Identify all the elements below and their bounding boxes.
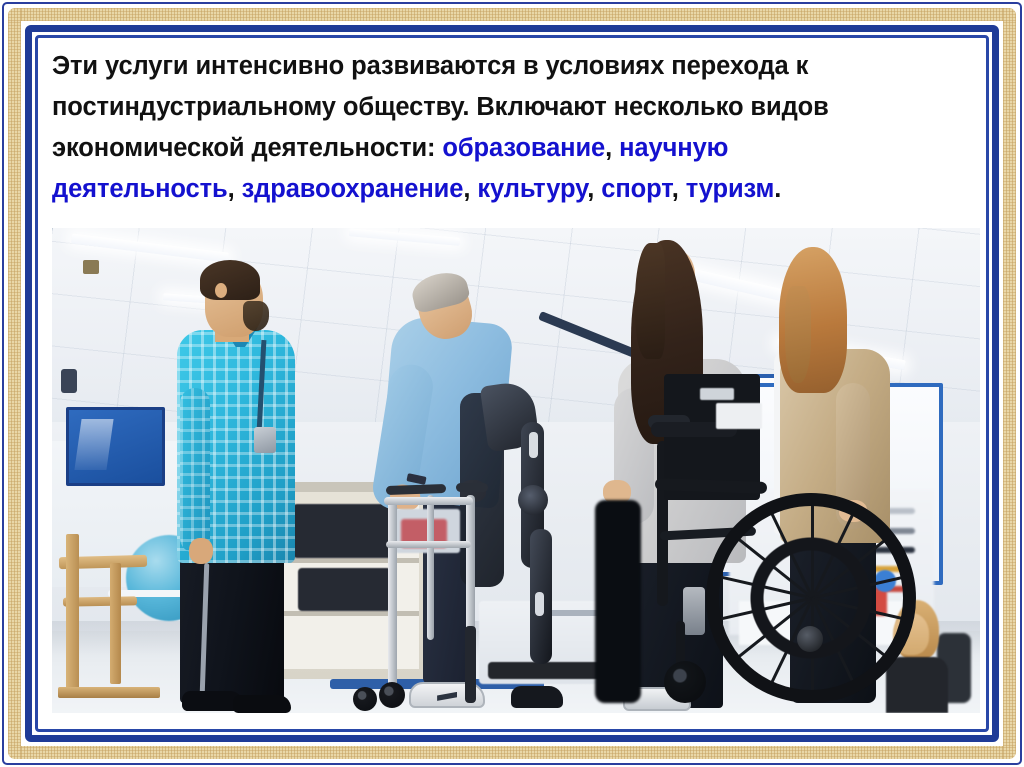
slide-body-text: Эти услуги интенсивно развиваются в усло… [52, 46, 974, 210]
term-nauchnuyu: научную [619, 134, 728, 162]
text-period: . [774, 175, 781, 203]
text-line-1-span: Эти услуги интенсивно развиваются в усло… [52, 52, 808, 80]
wall-fixture-icon [83, 260, 99, 274]
cart-bag-1 [293, 504, 395, 557]
term-turizm: туризм [686, 175, 775, 203]
slide-photo [52, 228, 980, 713]
exoskeleton-foot-plate [511, 686, 563, 708]
walker-crossbar-mid [386, 541, 471, 548]
foreground-silhouette [595, 500, 641, 704]
text-line-1: Эти услуги интенсивно развиваются в усло… [52, 46, 974, 87]
slide-root: Эти услуги интенсивно развиваются в усло… [0, 0, 1024, 767]
text-line-2-span: постиндустриальному обществу. Включают н… [52, 93, 829, 121]
therapist-male-trousers [180, 558, 284, 704]
term-zdravoohranenie: здравоохранение [242, 175, 464, 203]
cart-shelf-2 [279, 611, 418, 616]
text-sep-5: , [672, 175, 686, 203]
ceiling-camera-icon [61, 369, 77, 393]
text-sep-2: , [228, 175, 242, 203]
walker-crossbar-top [384, 497, 473, 505]
therapist-female-hair-front [635, 243, 665, 359]
therapist-male-beard [243, 301, 269, 331]
wall-monitor [66, 407, 165, 486]
walker-wheel-1 [379, 682, 405, 708]
wheelchair-label [716, 403, 762, 429]
slide-content-plate: Эти услуги интенсивно развиваются в усло… [38, 38, 986, 729]
therapist-male-id-badge [254, 427, 276, 453]
exoskeleton-shin-pad [535, 592, 544, 616]
text-line-2: постиндустриальному обществу. Включают н… [52, 87, 974, 128]
text-line-3-prefix: экономической деятельности: [52, 134, 442, 162]
walker-rubber-tip [465, 626, 476, 704]
walker-leg-middle [427, 495, 434, 641]
exoskeleton-thigh-pad [529, 432, 538, 458]
cart-bag-2 [298, 568, 391, 612]
parallel-bar-post-2 [110, 563, 121, 684]
wheelchair-bottle [683, 587, 705, 635]
text-sep-4: , [587, 175, 601, 203]
exoskeleton-knee-joint [518, 485, 548, 515]
text-line-4: деятельность, здравоохранение, культуру,… [52, 169, 974, 210]
parallel-bar-base [58, 687, 160, 698]
term-deyatelnost: деятельность [52, 175, 228, 203]
cart-shelf-1 [279, 558, 418, 563]
text-line-3: экономической деятельности: образование,… [52, 128, 974, 169]
text-sep-3: , [463, 175, 477, 203]
assistant-hair-front [785, 286, 811, 383]
term-sport: спорт [601, 175, 671, 203]
photo-canvas [52, 228, 980, 713]
walker-handgrip-right [456, 483, 488, 492]
therapist-male-shoe-right [233, 695, 291, 713]
therapist-male-hair [200, 260, 260, 300]
parallel-bar-post-1 [66, 534, 79, 689]
term-obrazovanie: образование [442, 134, 605, 162]
term-kulturu: культуру [477, 175, 587, 203]
wheelchair-brand-plate [700, 388, 734, 400]
wheelchair-rear-wheel [706, 493, 916, 703]
walker-wheel-2 [353, 687, 377, 711]
walker-leg-front [388, 500, 397, 694]
therapist-male-arm-check-pattern [180, 388, 210, 553]
therapist-male-hand [189, 538, 213, 564]
text-sep-1: , [605, 134, 619, 162]
